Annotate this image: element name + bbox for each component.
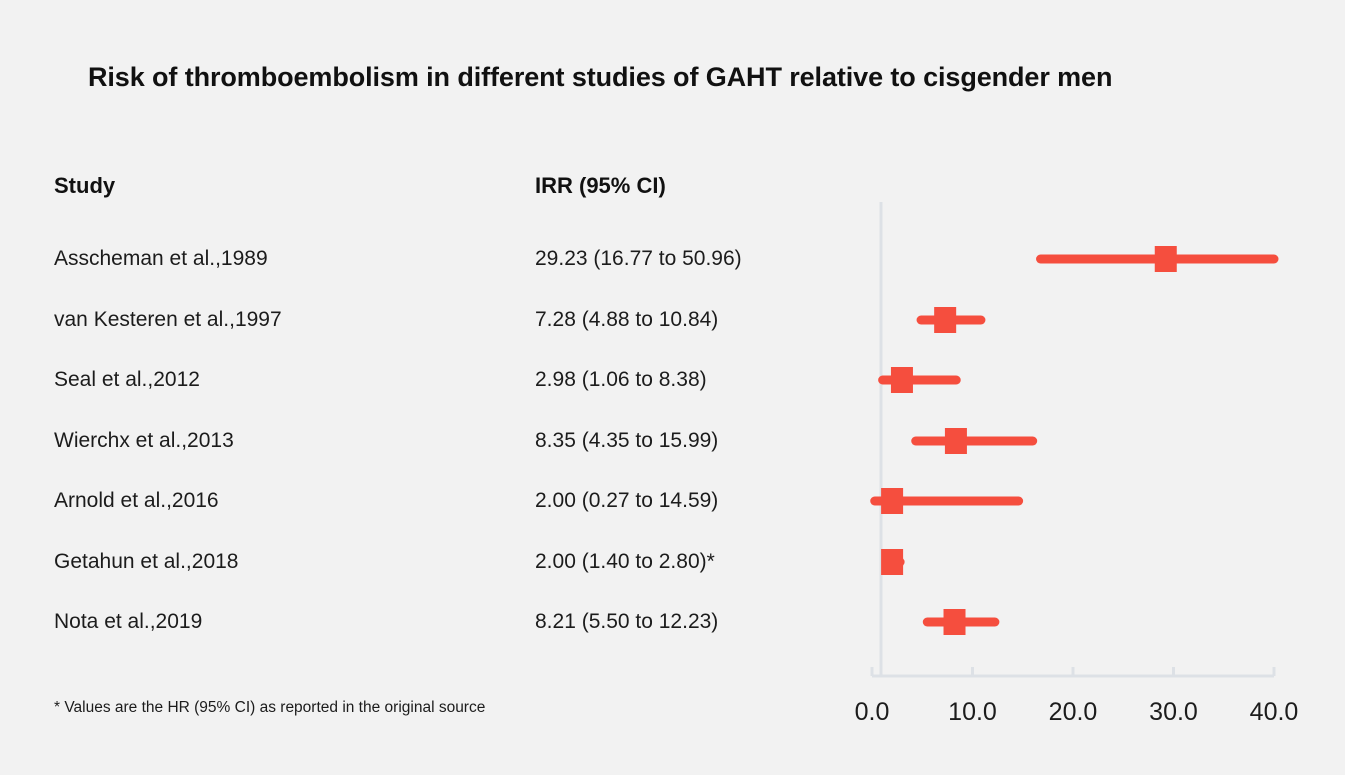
irr-value-cell: 2.00 (0.27 to 14.59) [535, 489, 718, 513]
study-name-cell: van Kesteren et al.,1997 [54, 308, 282, 332]
point-estimate-marker [1155, 246, 1177, 272]
forest-row [883, 367, 957, 393]
point-estimate-marker [891, 367, 913, 393]
study-name-cell: Getahun et al.,2018 [54, 550, 238, 574]
study-name-cell: Seal et al.,2012 [54, 368, 200, 392]
study-name-cell: Wierchx et al.,2013 [54, 429, 234, 453]
study-name-cell: Arnold et al.,2016 [54, 489, 219, 513]
forest-row [916, 428, 1033, 454]
point-estimate-marker [881, 488, 903, 514]
forest-row [881, 549, 903, 575]
irr-value-cell: 7.28 (4.88 to 10.84) [535, 308, 718, 332]
irr-value-cell: 2.00 (1.40 to 2.80)* [535, 550, 715, 574]
study-name-cell: Asscheman et al.,1989 [54, 247, 268, 271]
forest-plot-figure: Risk of thromboembolism in different stu… [0, 0, 1345, 775]
forest-row [1041, 246, 1274, 272]
x-axis-tick-label: 30.0 [1149, 698, 1198, 727]
study-name-cell: Nota et al.,2019 [54, 610, 202, 634]
column-header-study: Study [54, 173, 115, 199]
x-axis-tick-label: 0.0 [855, 698, 890, 727]
x-axis-tick-label: 10.0 [948, 698, 997, 727]
forest-row [927, 609, 995, 635]
footnote: * Values are the HR (95% CI) as reported… [54, 699, 485, 717]
x-axis-tick-label: 20.0 [1049, 698, 1098, 727]
irr-value-cell: 8.35 (4.35 to 15.99) [535, 429, 718, 453]
forest-row [921, 307, 981, 333]
irr-value-cell: 2.98 (1.06 to 8.38) [535, 368, 707, 392]
irr-value-cell: 8.21 (5.50 to 12.23) [535, 610, 718, 634]
irr-value-cell: 29.23 (16.77 to 50.96) [535, 247, 742, 271]
x-axis-tick-label: 40.0 [1250, 698, 1299, 727]
point-estimate-marker [881, 549, 903, 575]
point-estimate-marker [945, 428, 967, 454]
point-estimate-marker [934, 307, 956, 333]
page-title: Risk of thromboembolism in different stu… [88, 62, 1268, 93]
forest-row [875, 488, 1019, 514]
point-estimate-marker [944, 609, 966, 635]
column-header-irr: IRR (95% CI) [535, 173, 666, 199]
